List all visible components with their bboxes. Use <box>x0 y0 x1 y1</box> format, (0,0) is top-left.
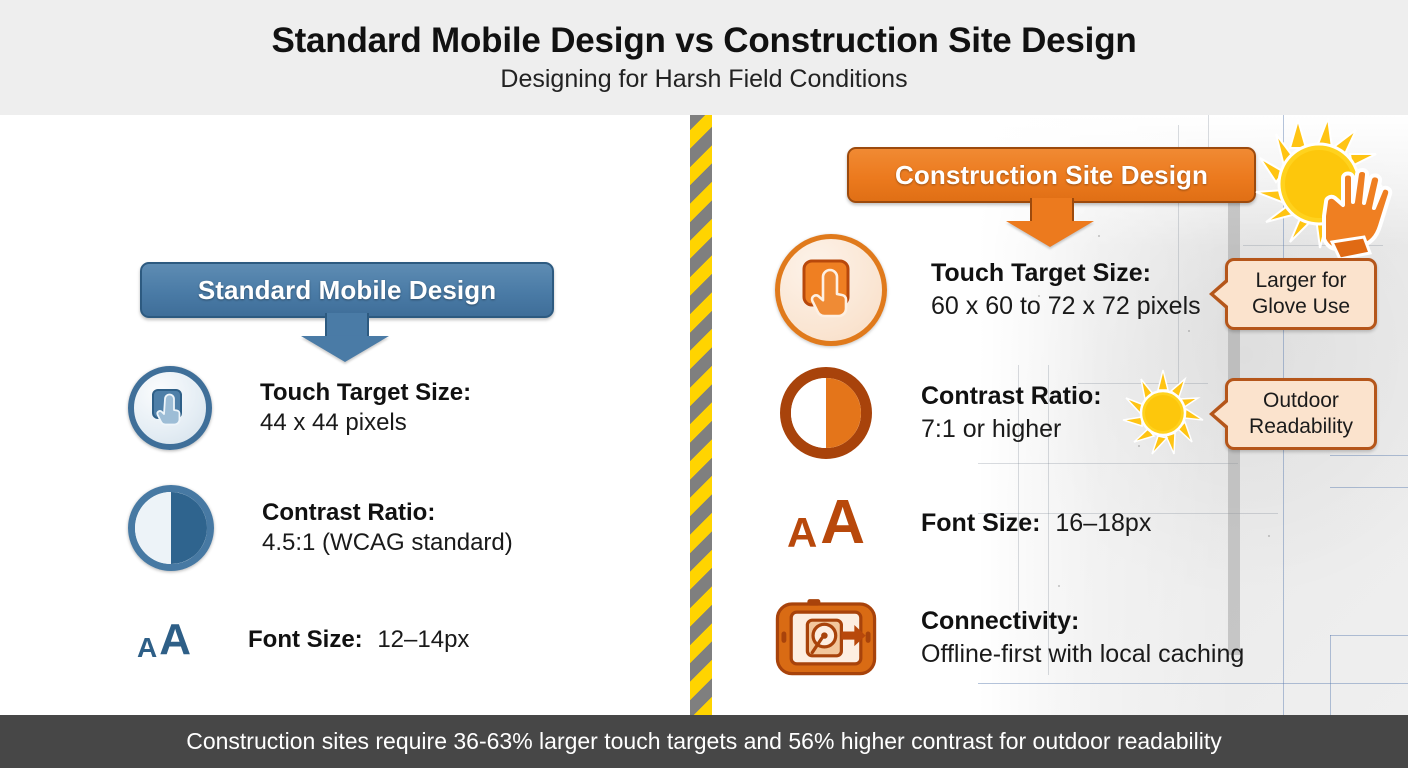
header-bar: Standard Mobile Design vs Construction S… <box>0 0 1408 116</box>
construction-site-badge-label: Construction Site Design <box>895 160 1208 191</box>
list-item-label: Font Size: <box>248 626 363 653</box>
font-size-icon: A A <box>775 492 877 554</box>
font-size-large-a: A <box>159 618 191 662</box>
callout-line-1: Larger for <box>1252 268 1350 294</box>
touch-target-icon <box>128 366 212 450</box>
list-item-label: Touch Target Size: <box>931 257 1201 290</box>
list-item: A A Font Size: 16–18px <box>775 490 1375 556</box>
hazard-stripe-divider <box>690 115 712 715</box>
construction-site-badge: Construction Site Design <box>847 147 1256 203</box>
footer-bar: Construction sites require 36-63% larger… <box>0 715 1408 768</box>
list-item: A A Font Size: 12–14px <box>128 609 648 671</box>
callout-glove-use: Larger for Glove Use <box>1225 258 1377 330</box>
infographic-root: Standard Mobile Design vs Construction S… <box>0 0 1408 768</box>
page-subtitle: Designing for Harsh Field Conditions <box>500 66 907 92</box>
callout-line-2: Glove Use <box>1252 294 1350 320</box>
sun-icon <box>1118 368 1208 458</box>
footer-summary-text: Construction sites require 36-63% larger… <box>186 728 1222 755</box>
list-item-label: Font Size: <box>921 509 1040 537</box>
list-item-label: Contrast Ratio: <box>921 380 1102 413</box>
list-item-label: Contrast Ratio: <box>262 498 513 528</box>
contrast-ratio-icon <box>128 485 214 571</box>
list-item-value: 12–14px <box>377 626 469 653</box>
standard-mobile-panel: Standard Mobile Design Touch Target Size… <box>0 115 690 715</box>
list-item-value: 60 x 60 to 72 x 72 pixels <box>931 290 1201 323</box>
list-item: Contrast Ratio: 4.5:1 (WCAG standard) <box>128 487 648 569</box>
standard-arrow-stem <box>325 313 369 337</box>
callout-tail-inner-icon <box>1214 402 1228 426</box>
standard-mobile-badge: Standard Mobile Design <box>140 262 554 318</box>
callout-tail-inner-icon <box>1214 282 1228 306</box>
list-item: Touch Target Size: 44 x 44 pixels <box>128 367 648 449</box>
font-size-large-a: A <box>820 492 865 554</box>
list-item-value: 44 x 44 pixels <box>260 408 471 438</box>
construction-arrow-stem <box>1030 198 1074 222</box>
list-item: Connectivity: Offline-first with local c… <box>775 588 1375 688</box>
list-item-label: Touch Target Size: <box>260 378 471 408</box>
contrast-ratio-icon <box>775 367 877 459</box>
list-item-value: 16–18px <box>1055 509 1151 537</box>
standard-arrow-down-icon <box>301 336 389 362</box>
standard-mobile-badge-label: Standard Mobile Design <box>198 275 496 306</box>
font-size-small-a: A <box>787 512 817 554</box>
callout-line-1: Outdoor <box>1249 388 1353 414</box>
callout-outdoor-readability: Outdoor Readability <box>1225 378 1377 450</box>
list-item-value: Offline-first with local caching <box>921 638 1244 671</box>
list-item-label: Connectivity: <box>921 605 1244 638</box>
font-size-small-a: A <box>137 634 157 662</box>
list-item-value: 7:1 or higher <box>921 413 1102 446</box>
font-size-icon: A A <box>128 618 200 662</box>
touch-target-icon <box>775 234 887 346</box>
list-item-value: 4.5:1 (WCAG standard) <box>262 528 513 558</box>
page-title: Standard Mobile Design vs Construction S… <box>271 23 1136 60</box>
callout-line-2: Readability <box>1249 414 1353 440</box>
rugged-tablet-icon <box>775 590 877 686</box>
